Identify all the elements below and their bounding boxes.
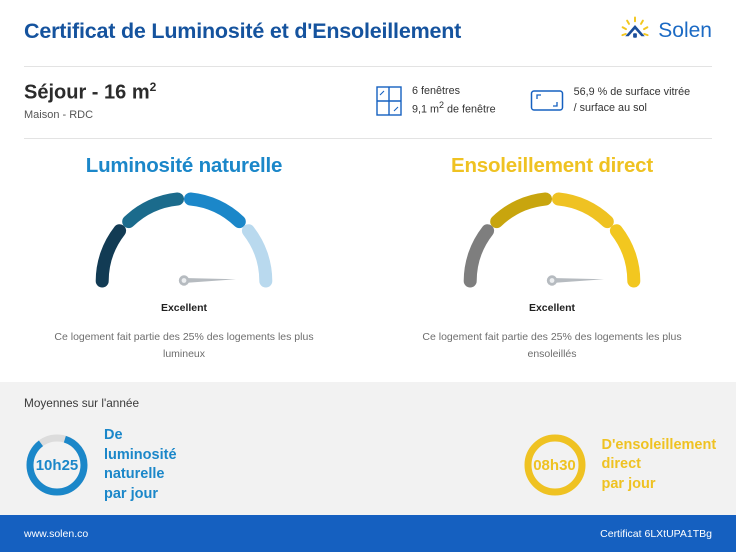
fact-glazing-ratio: 56,9 % de surface vitrée / surface au so… xyxy=(530,85,690,116)
fact-glazing-percent: 56,9 % de surface vitrée xyxy=(574,85,690,101)
page-title: Certificat de Luminosité et d'Ensoleille… xyxy=(24,19,461,44)
room-name-text: Séjour - 16 m xyxy=(24,82,150,104)
brand-name: Solen xyxy=(658,19,712,43)
page-footer: www.solen.co Certificat 6LXtUPA1TBg xyxy=(0,515,736,552)
gauge-segment-2 xyxy=(497,199,546,222)
averages-title: Moyennes sur l'année xyxy=(24,396,712,410)
average-ensoleillement-donut: 08h30 xyxy=(522,432,588,498)
info-divider xyxy=(24,138,712,139)
fact-windows-area-unit: de fenêtre xyxy=(444,104,496,116)
average-luminosite-line2: par jour xyxy=(104,485,177,505)
header-divider xyxy=(24,66,712,67)
average-ensoleillement: 08h30 D'ensoleillement direct par jour xyxy=(522,426,717,504)
footer-certificate-id: Certificat 6LXtUPA1TBg xyxy=(600,528,712,540)
fact-windows-area-value: 9,1 m xyxy=(412,104,439,116)
average-ensoleillement-value: 08h30 xyxy=(522,432,588,498)
room-block: Séjour - 16 m2 Maison - RDC xyxy=(24,81,376,121)
gauge-luminosite-title: Luminosité naturelle xyxy=(86,154,282,178)
gauge-segment-4 xyxy=(616,231,633,281)
gauge-luminosite-description: Ce logement fait partie des 25% des loge… xyxy=(39,329,329,363)
average-ensoleillement-text: D'ensoleillement direct par jour xyxy=(602,436,717,495)
fact-windows-text: 6 fenêtres 9,1 m2 de fenêtre xyxy=(412,84,496,119)
averages-row: 10h25 De luminosité naturelle par jour 0… xyxy=(24,426,712,504)
gauge-segment-2 xyxy=(129,199,178,222)
average-luminosite-donut: 10h25 xyxy=(24,432,90,498)
gauges-section: Luminosité naturelle Excellent Ce logeme… xyxy=(0,140,736,382)
window-grid-icon xyxy=(376,86,402,116)
gauge-luminosite: Luminosité naturelle Excellent Ce logeme… xyxy=(0,140,368,382)
gauge-segment-3 xyxy=(191,199,240,222)
certificate-page: Certificat de Luminosité et d'Ensoleille… xyxy=(0,0,736,552)
gauge-ensoleillement-dial xyxy=(452,186,652,304)
gauge-luminosite-dial xyxy=(84,186,284,304)
page-header: Certificat de Luminosité et d'Ensoleille… xyxy=(0,0,736,62)
gauge-segment-4 xyxy=(248,231,265,281)
footer-website[interactable]: www.solen.co xyxy=(24,528,88,540)
room-name: Séjour - 16 m2 xyxy=(24,81,376,105)
averages-panel: Moyennes sur l'année 10h25 De luminosité… xyxy=(0,382,736,515)
average-luminosite-text: De luminosité naturelle par jour xyxy=(104,426,177,504)
average-luminosite-line1: De luminosité naturelle xyxy=(104,426,177,485)
floor-area-icon xyxy=(530,88,564,114)
gauge-ensoleillement-rating: Excellent xyxy=(529,302,575,314)
gauge-needle xyxy=(547,275,604,285)
room-location: Maison - RDC xyxy=(24,109,376,121)
sun-house-logo-icon xyxy=(620,16,650,46)
gauge-needle xyxy=(179,275,236,285)
gauge-luminosite-rating: Excellent xyxy=(161,302,207,314)
gauge-segment-3 xyxy=(559,199,608,222)
gauge-ensoleillement: Ensoleillement direct Excellent Ce logem… xyxy=(368,140,736,382)
brand-logo-group: Solen xyxy=(620,16,712,46)
gauge-segment-1 xyxy=(470,231,487,281)
fact-windows-count: 6 fenêtres xyxy=(412,84,496,100)
fact-windows-area: 9,1 m2 de fenêtre xyxy=(412,99,496,118)
average-luminosite: 10h25 De luminosité naturelle par jour xyxy=(24,426,177,504)
fact-windows: 6 fenêtres 9,1 m2 de fenêtre xyxy=(376,84,496,119)
room-info-strip: Séjour - 16 m2 Maison - RDC 6 fenêtres 9… xyxy=(0,70,736,132)
gauge-segment-1 xyxy=(102,231,119,281)
gauge-ensoleillement-title: Ensoleillement direct xyxy=(451,154,653,178)
fact-glazing-text: 56,9 % de surface vitrée / surface au so… xyxy=(574,85,690,116)
gauge-ensoleillement-description: Ce logement fait partie des 25% des loge… xyxy=(407,329,697,363)
average-luminosite-value: 10h25 xyxy=(24,432,90,498)
average-ensoleillement-line1: D'ensoleillement direct xyxy=(602,436,717,475)
average-ensoleillement-line2: par jour xyxy=(602,475,717,495)
fact-glazing-denominator: / surface au sol xyxy=(574,101,690,117)
room-name-superscript: 2 xyxy=(150,80,157,94)
